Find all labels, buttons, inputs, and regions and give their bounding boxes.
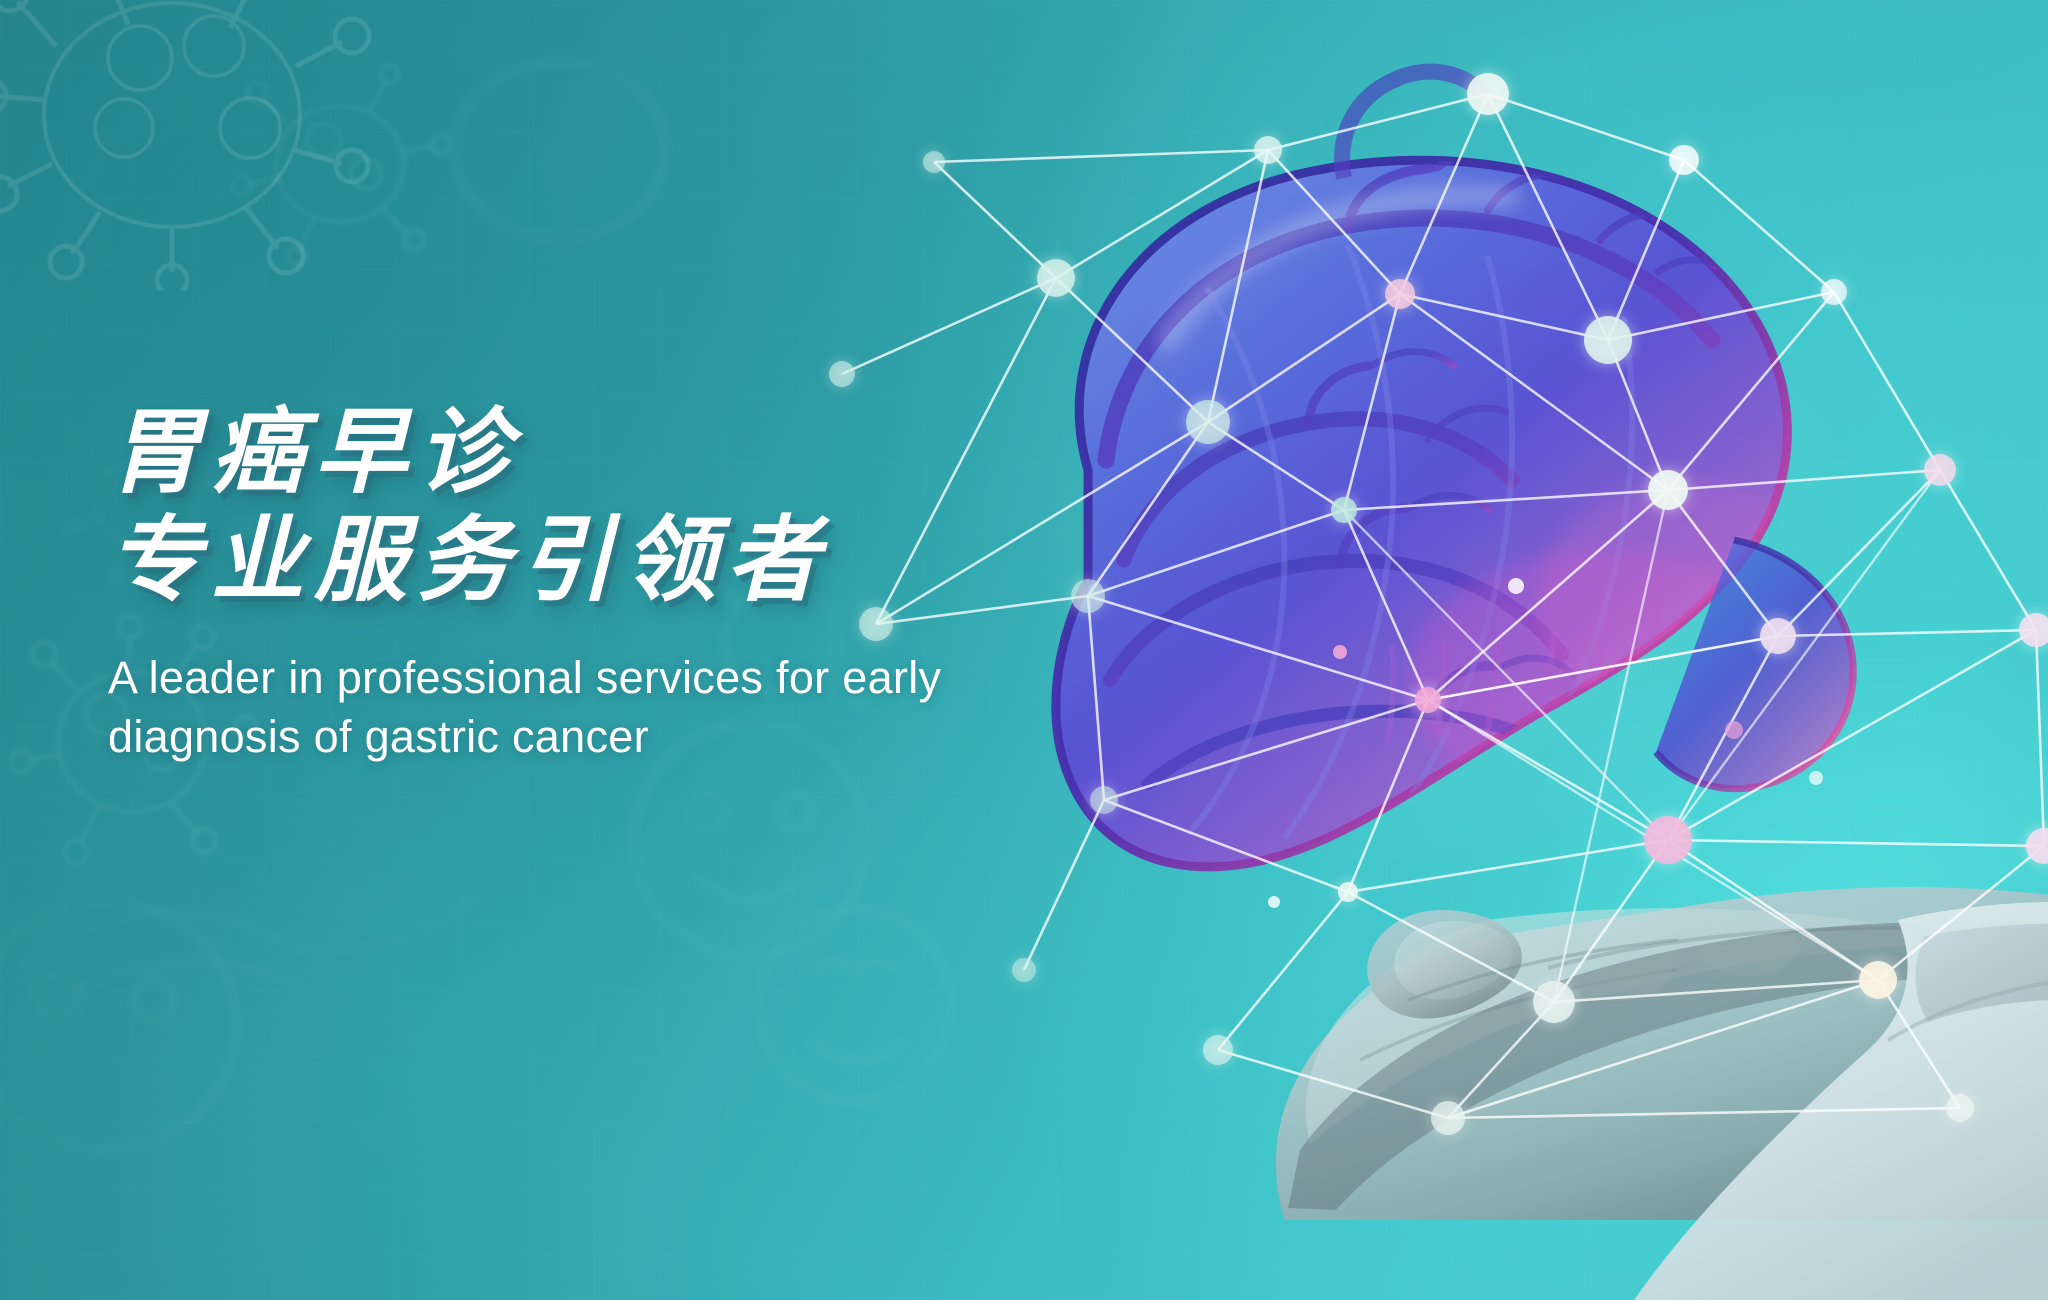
virus-particle-icon	[230, 60, 450, 270]
headline-line-1: 胃癌早诊	[108, 400, 520, 504]
page-subtitle: A leader in professional services for ea…	[108, 649, 948, 766]
filament-decoration-icon	[20, 760, 480, 1020]
subtitle-line-2: diagnosis of gastric cancer	[108, 711, 649, 762]
cell-particle-icon	[430, 40, 690, 260]
cell-particle-icon	[0, 860, 270, 1190]
cell-particle-icon	[730, 880, 980, 1130]
virus-particle-icon	[0, 0, 380, 290]
subtitle-line-1: A leader in professional services for ea…	[108, 652, 941, 703]
promo-banner: 胃癌早诊 专业服务引领者 A leader in professional se…	[0, 0, 2048, 1300]
banner-copy: 胃癌早诊 专业服务引领者 A leader in professional se…	[108, 404, 1168, 766]
headline-line-2: 专业服务引领者	[108, 512, 1168, 610]
stomach-organ-illustration	[1056, 72, 1853, 867]
open-cupped-hand	[1276, 887, 2048, 1300]
page-title: 胃癌早诊 专业服务引领者	[108, 404, 1168, 609]
